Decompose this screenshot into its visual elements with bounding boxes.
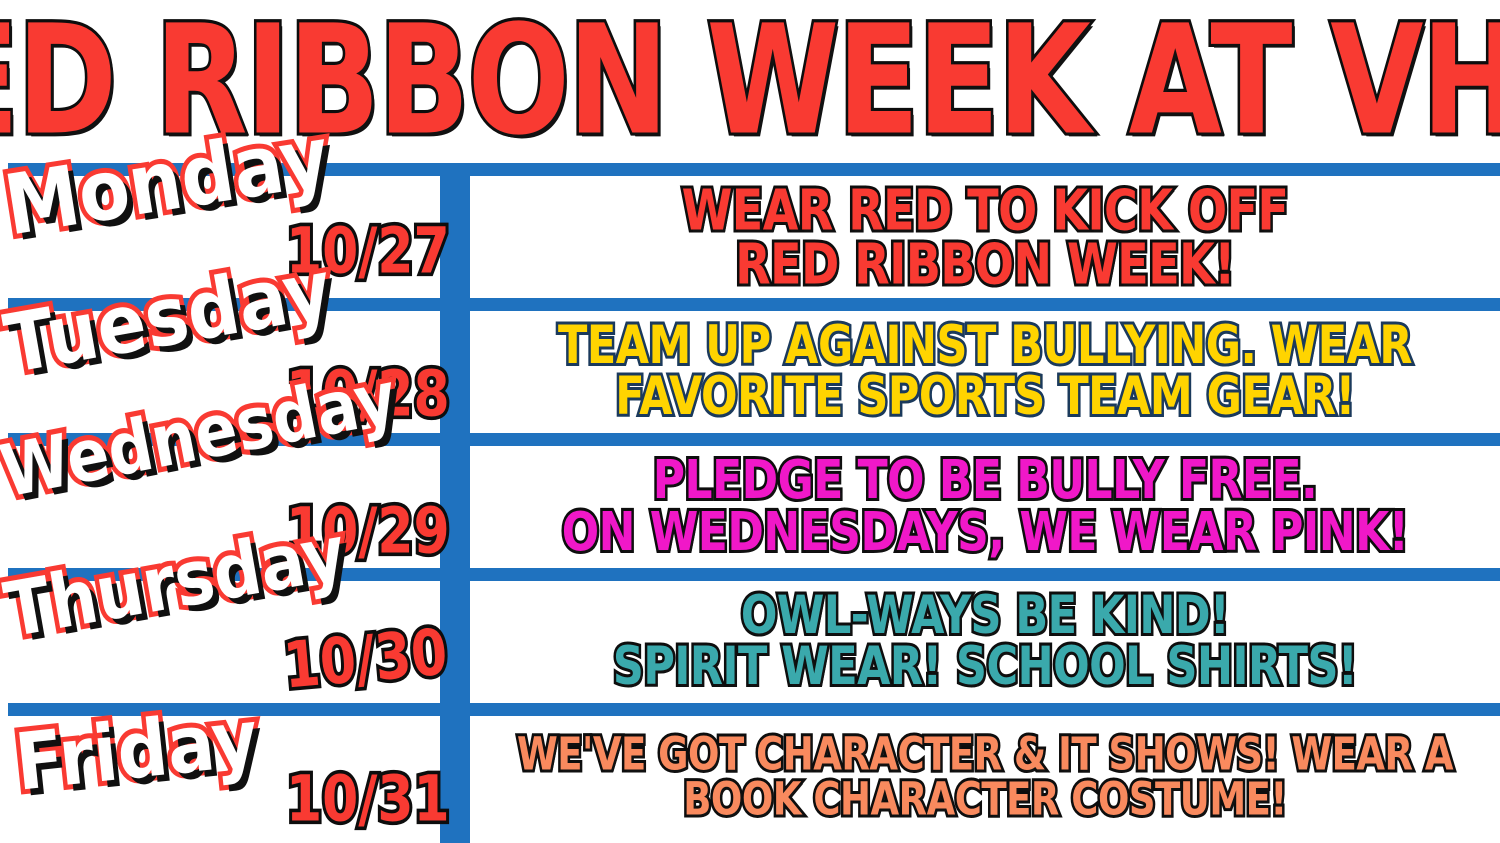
day-cell-thursday: Thursday 10/30 [0,581,440,703]
schedule-row-friday: Friday 10/31 WE'VE GOT CHARACTER & IT SH… [0,716,1500,838]
message-cell-tuesday: TEAM UP AGAINST BULLYING. WEAR FAVORITE … [470,311,1500,433]
red-ribbon-week-poster: RED RIBBON WEEK AT VHE! Monday 10/27 WEA… [0,0,1500,843]
message-cell-friday: WE'VE GOT CHARACTER & IT SHOWS! WEAR A B… [470,716,1500,838]
message-line: TEAM UP AGAINST BULLYING. WEAR [558,320,1412,372]
message-line: RED RIBBON WEEK! [735,236,1235,292]
date-label-thursday: 10/30 [281,621,450,698]
message-line: PLEDGE TO BE BULLY FREE. [653,454,1317,508]
message-line: WEAR RED TO KICK OFF [682,182,1289,238]
message-cell-wednesday: PLEDGE TO BE BULLY FREE. ON WEDNESDAYS, … [470,446,1500,568]
day-label-friday: Friday [12,699,262,802]
message-cell-thursday: OWL-WAYS BE KIND! SPIRIT WEAR! SCHOOL SH… [470,581,1500,703]
schedule-row-thursday: Thursday 10/30 OWL-WAYS BE KIND! SPIRIT … [0,581,1500,703]
message-line: WE'VE GOT CHARACTER & IT SHOWS! WEAR A [517,732,1453,777]
message-line: ON WEDNESDAYS, WE WEAR PINK! [562,506,1409,560]
message-line: BOOK CHARACTER COSTUME! [683,777,1287,822]
message-cell-monday: WEAR RED TO KICK OFF RED RIBBON WEEK! [470,176,1500,298]
date-label-friday: 10/31 [286,768,450,831]
day-cell-friday: Friday 10/31 [0,716,440,838]
message-line: SPIRIT WEAR! SCHOOL SHIRTS! [613,641,1357,693]
message-line: FAVORITE SPORTS TEAM GEAR! [615,371,1355,423]
message-line: OWL-WAYS BE KIND! [741,590,1229,642]
